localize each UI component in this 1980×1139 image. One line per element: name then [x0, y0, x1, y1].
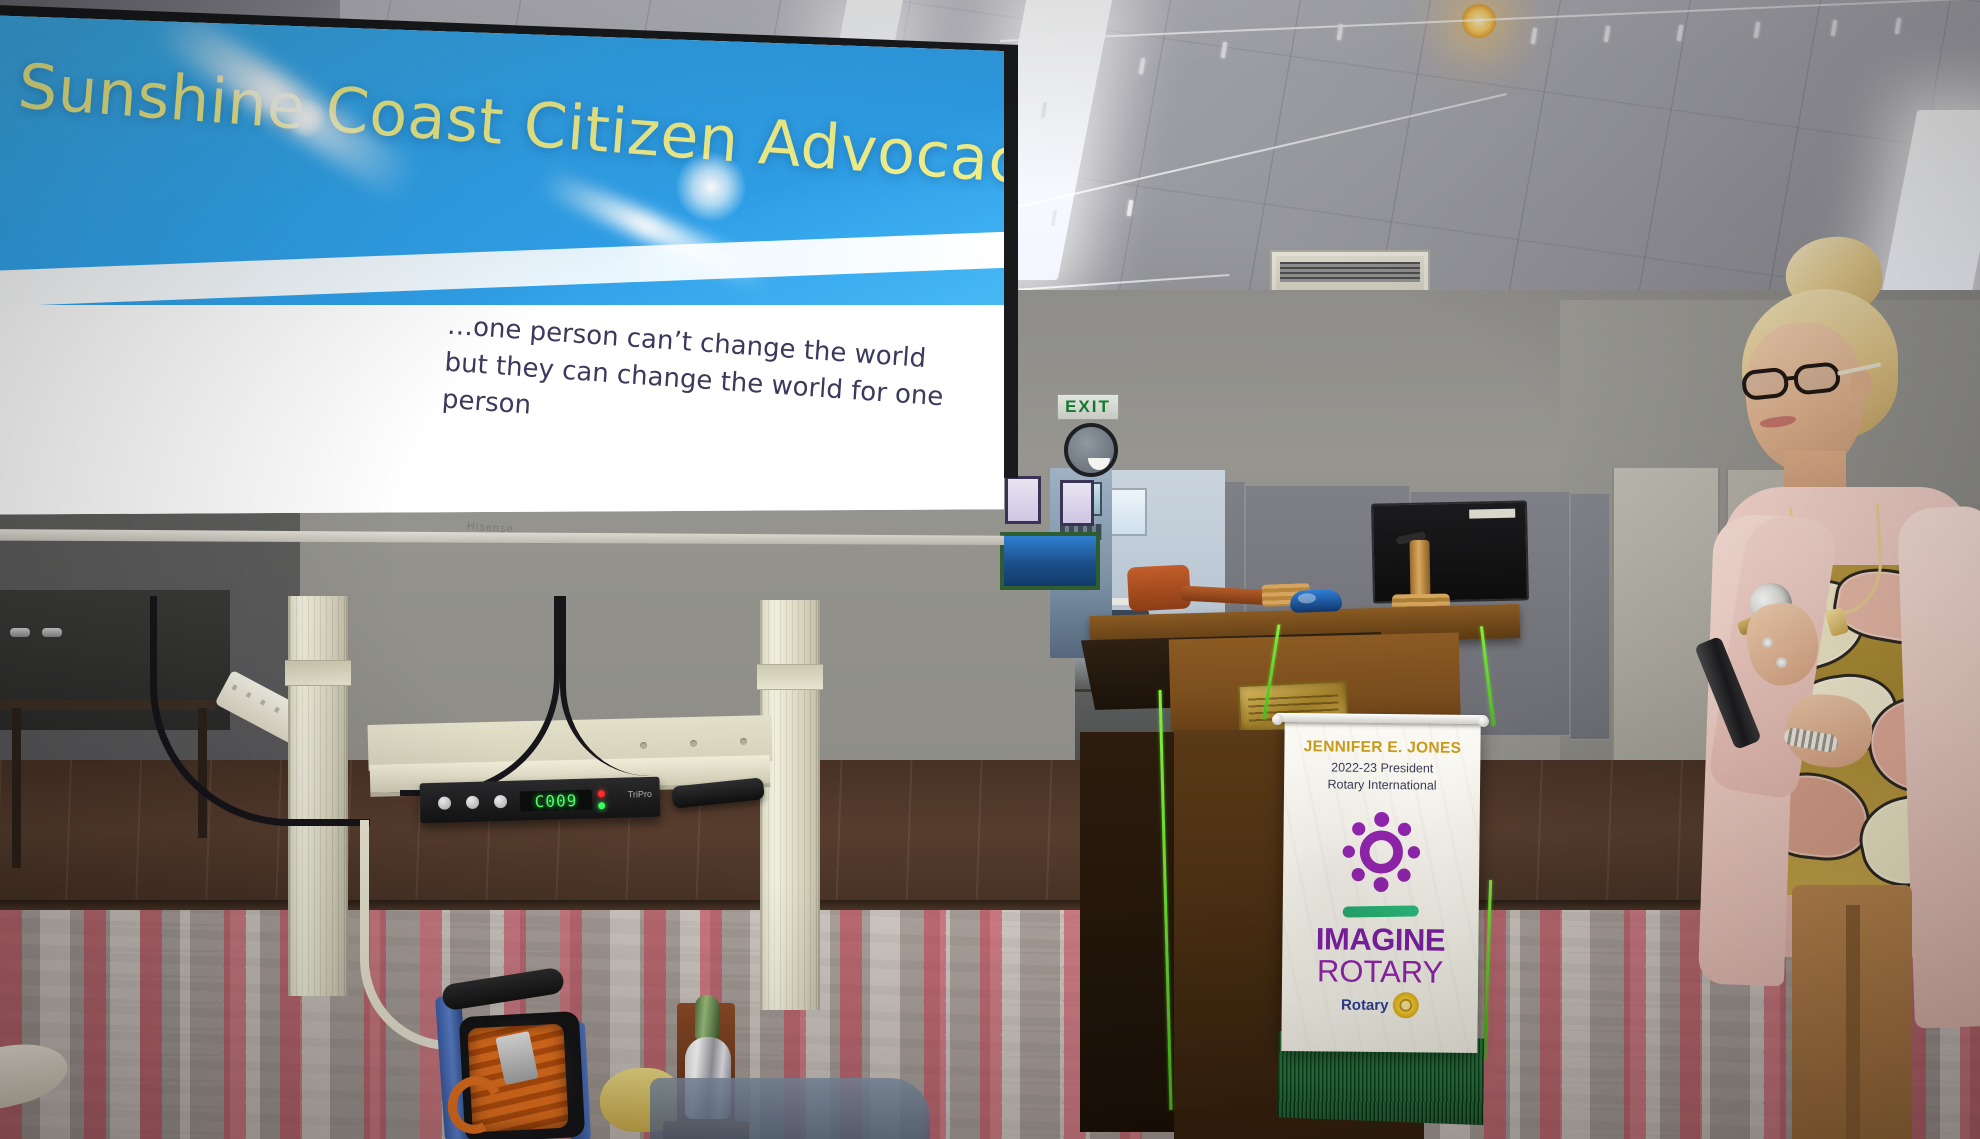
glasses-lens: [1741, 367, 1790, 402]
tv-stand-collar: [757, 664, 823, 690]
av-channel-value: C009: [534, 790, 577, 810]
cabinet-handle-icon[interactable]: [42, 628, 62, 637]
tv-screen: Sunshine Coast Citizen Advocacy …one per…: [0, 2, 1004, 525]
av-led-green-icon: [598, 802, 605, 809]
av-knob-icon[interactable]: [466, 796, 479, 809]
av-knob-icon[interactable]: [494, 795, 507, 808]
presentation-slide: Sunshine Coast Citizen Advocacy …one per…: [0, 2, 1004, 525]
banner-theme-rotary: ROTARY: [1282, 953, 1478, 991]
av-receiver[interactable]: C009 TriPro: [419, 777, 660, 824]
banner-green-dash: [1343, 905, 1419, 917]
banner-subtitle-line: Rotary International: [1284, 776, 1480, 795]
av-led-red-icon: [598, 790, 605, 797]
slide-body-text: …one person can’t change the world but t…: [441, 308, 977, 455]
shelf-screw: [690, 740, 697, 747]
laptop-badge: [1469, 509, 1515, 519]
tv-stand-leg: [760, 600, 820, 1010]
av-knob-icon[interactable]: [438, 796, 451, 809]
banner-subtitle: 2022-23 President Rotary International: [1284, 759, 1480, 794]
banner-footer: Rotary: [1282, 991, 1478, 1019]
ring: [1776, 657, 1787, 668]
imagine-rotary-sun-icon: [1337, 808, 1426, 897]
leg-separation: [1846, 905, 1860, 1139]
photo-scene: ATM EXIT C009 TriPro: [0, 0, 1980, 1139]
trophy-finial: [695, 995, 719, 1039]
glasses-lens: [1792, 361, 1841, 396]
av-channel-display: C009: [520, 790, 593, 812]
desk-leg: [12, 708, 21, 868]
rotary-banner: JENNIFER E. JONES 2022-23 President Rota…: [1281, 721, 1480, 1053]
framed-picture: [1060, 480, 1094, 526]
television: Sunshine Coast Citizen Advocacy …one per…: [0, 0, 1018, 607]
shelf-screw: [740, 738, 747, 745]
ring: [1762, 637, 1773, 648]
wall-clock: [1064, 423, 1118, 477]
rotary-wheel-icon: [1392, 992, 1418, 1018]
wooden-bell-stand: [1409, 540, 1430, 602]
partition-panel: [1570, 494, 1610, 740]
av-brand-label: TriPro: [628, 789, 652, 800]
banner-rod-cap: [1272, 714, 1283, 725]
speaker-person: [1700, 265, 1980, 1139]
banner-president-name: JENNIFER E. JONES: [1284, 738, 1480, 758]
rotary-wordmark: Rotary: [1341, 996, 1389, 1013]
floor-mat: [650, 1078, 930, 1139]
banner-rod-cap: [1478, 716, 1489, 727]
laptop-computer[interactable]: [1371, 500, 1529, 603]
exit-sign: EXIT: [1057, 394, 1119, 420]
exit-sign-text: EXIT: [1065, 397, 1111, 417]
cabinet-handle-icon[interactable]: [10, 628, 30, 637]
computer-mouse[interactable]: [1290, 589, 1343, 613]
banner-subtitle-line: 2022-23 President: [1284, 759, 1480, 778]
